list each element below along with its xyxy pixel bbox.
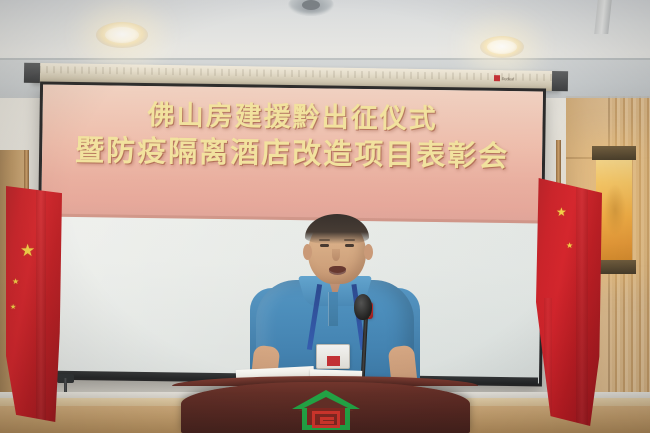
shirt-placket bbox=[328, 292, 338, 326]
id-badge bbox=[316, 344, 350, 369]
housing-cap-right bbox=[552, 71, 568, 91]
ceiling-edge bbox=[0, 58, 650, 60]
brand-mark-icon bbox=[494, 75, 500, 81]
flag-star-small: ★ bbox=[12, 278, 19, 286]
flag-star-small: ★ bbox=[10, 304, 16, 311]
housing-cap-left bbox=[24, 63, 40, 83]
ear-right bbox=[364, 244, 373, 260]
flag-star-small: ★ bbox=[566, 242, 573, 250]
hair bbox=[305, 214, 369, 244]
eyebrow-left bbox=[319, 239, 330, 241]
downlight-bulb bbox=[105, 27, 139, 43]
housing-company-logo bbox=[292, 390, 360, 430]
downlight-icon bbox=[96, 22, 148, 48]
photo-scene: Redleaf 佛山房建援黔出征仪式 暨防疫隔离酒店改造项目表彰会 ★ ★ ★ … bbox=[0, 0, 650, 433]
flag-star-big: ★ bbox=[20, 242, 35, 259]
housing-brand-logo: Redleaf bbox=[494, 75, 514, 81]
ear-left bbox=[303, 244, 312, 260]
eye-left bbox=[320, 244, 329, 247]
sconce-motif bbox=[604, 184, 626, 236]
nose bbox=[332, 249, 340, 261]
slide-title: 佛山房建援黔出征仪式 暨防疫隔离酒店改造项目表彰会 bbox=[42, 99, 543, 174]
flag-left: ★ ★ ★ bbox=[6, 186, 62, 422]
sconce-cap-top bbox=[592, 146, 636, 160]
brand-text: Redleaf bbox=[502, 76, 514, 81]
mouth bbox=[329, 266, 346, 275]
flag-star-big: ★ bbox=[556, 206, 567, 218]
slide-title-line-1: 佛山房建援黔出征仪式 bbox=[42, 99, 542, 138]
flagpole-right bbox=[556, 140, 561, 186]
microphone-icon bbox=[354, 294, 372, 320]
eye-right bbox=[345, 244, 354, 247]
logo-spiral-icon bbox=[312, 411, 340, 428]
eyebrow-right bbox=[344, 239, 355, 241]
downlight-icon bbox=[480, 36, 524, 58]
flag-fold bbox=[36, 186, 46, 422]
slide-title-line-2: 暨防疫隔离酒店改造项目表彰会 bbox=[42, 132, 542, 173]
flagpole-left bbox=[24, 150, 29, 194]
speaker bbox=[250, 218, 420, 388]
podium bbox=[181, 382, 470, 433]
flag-fold bbox=[576, 178, 588, 426]
downlight-bulb bbox=[487, 40, 517, 54]
